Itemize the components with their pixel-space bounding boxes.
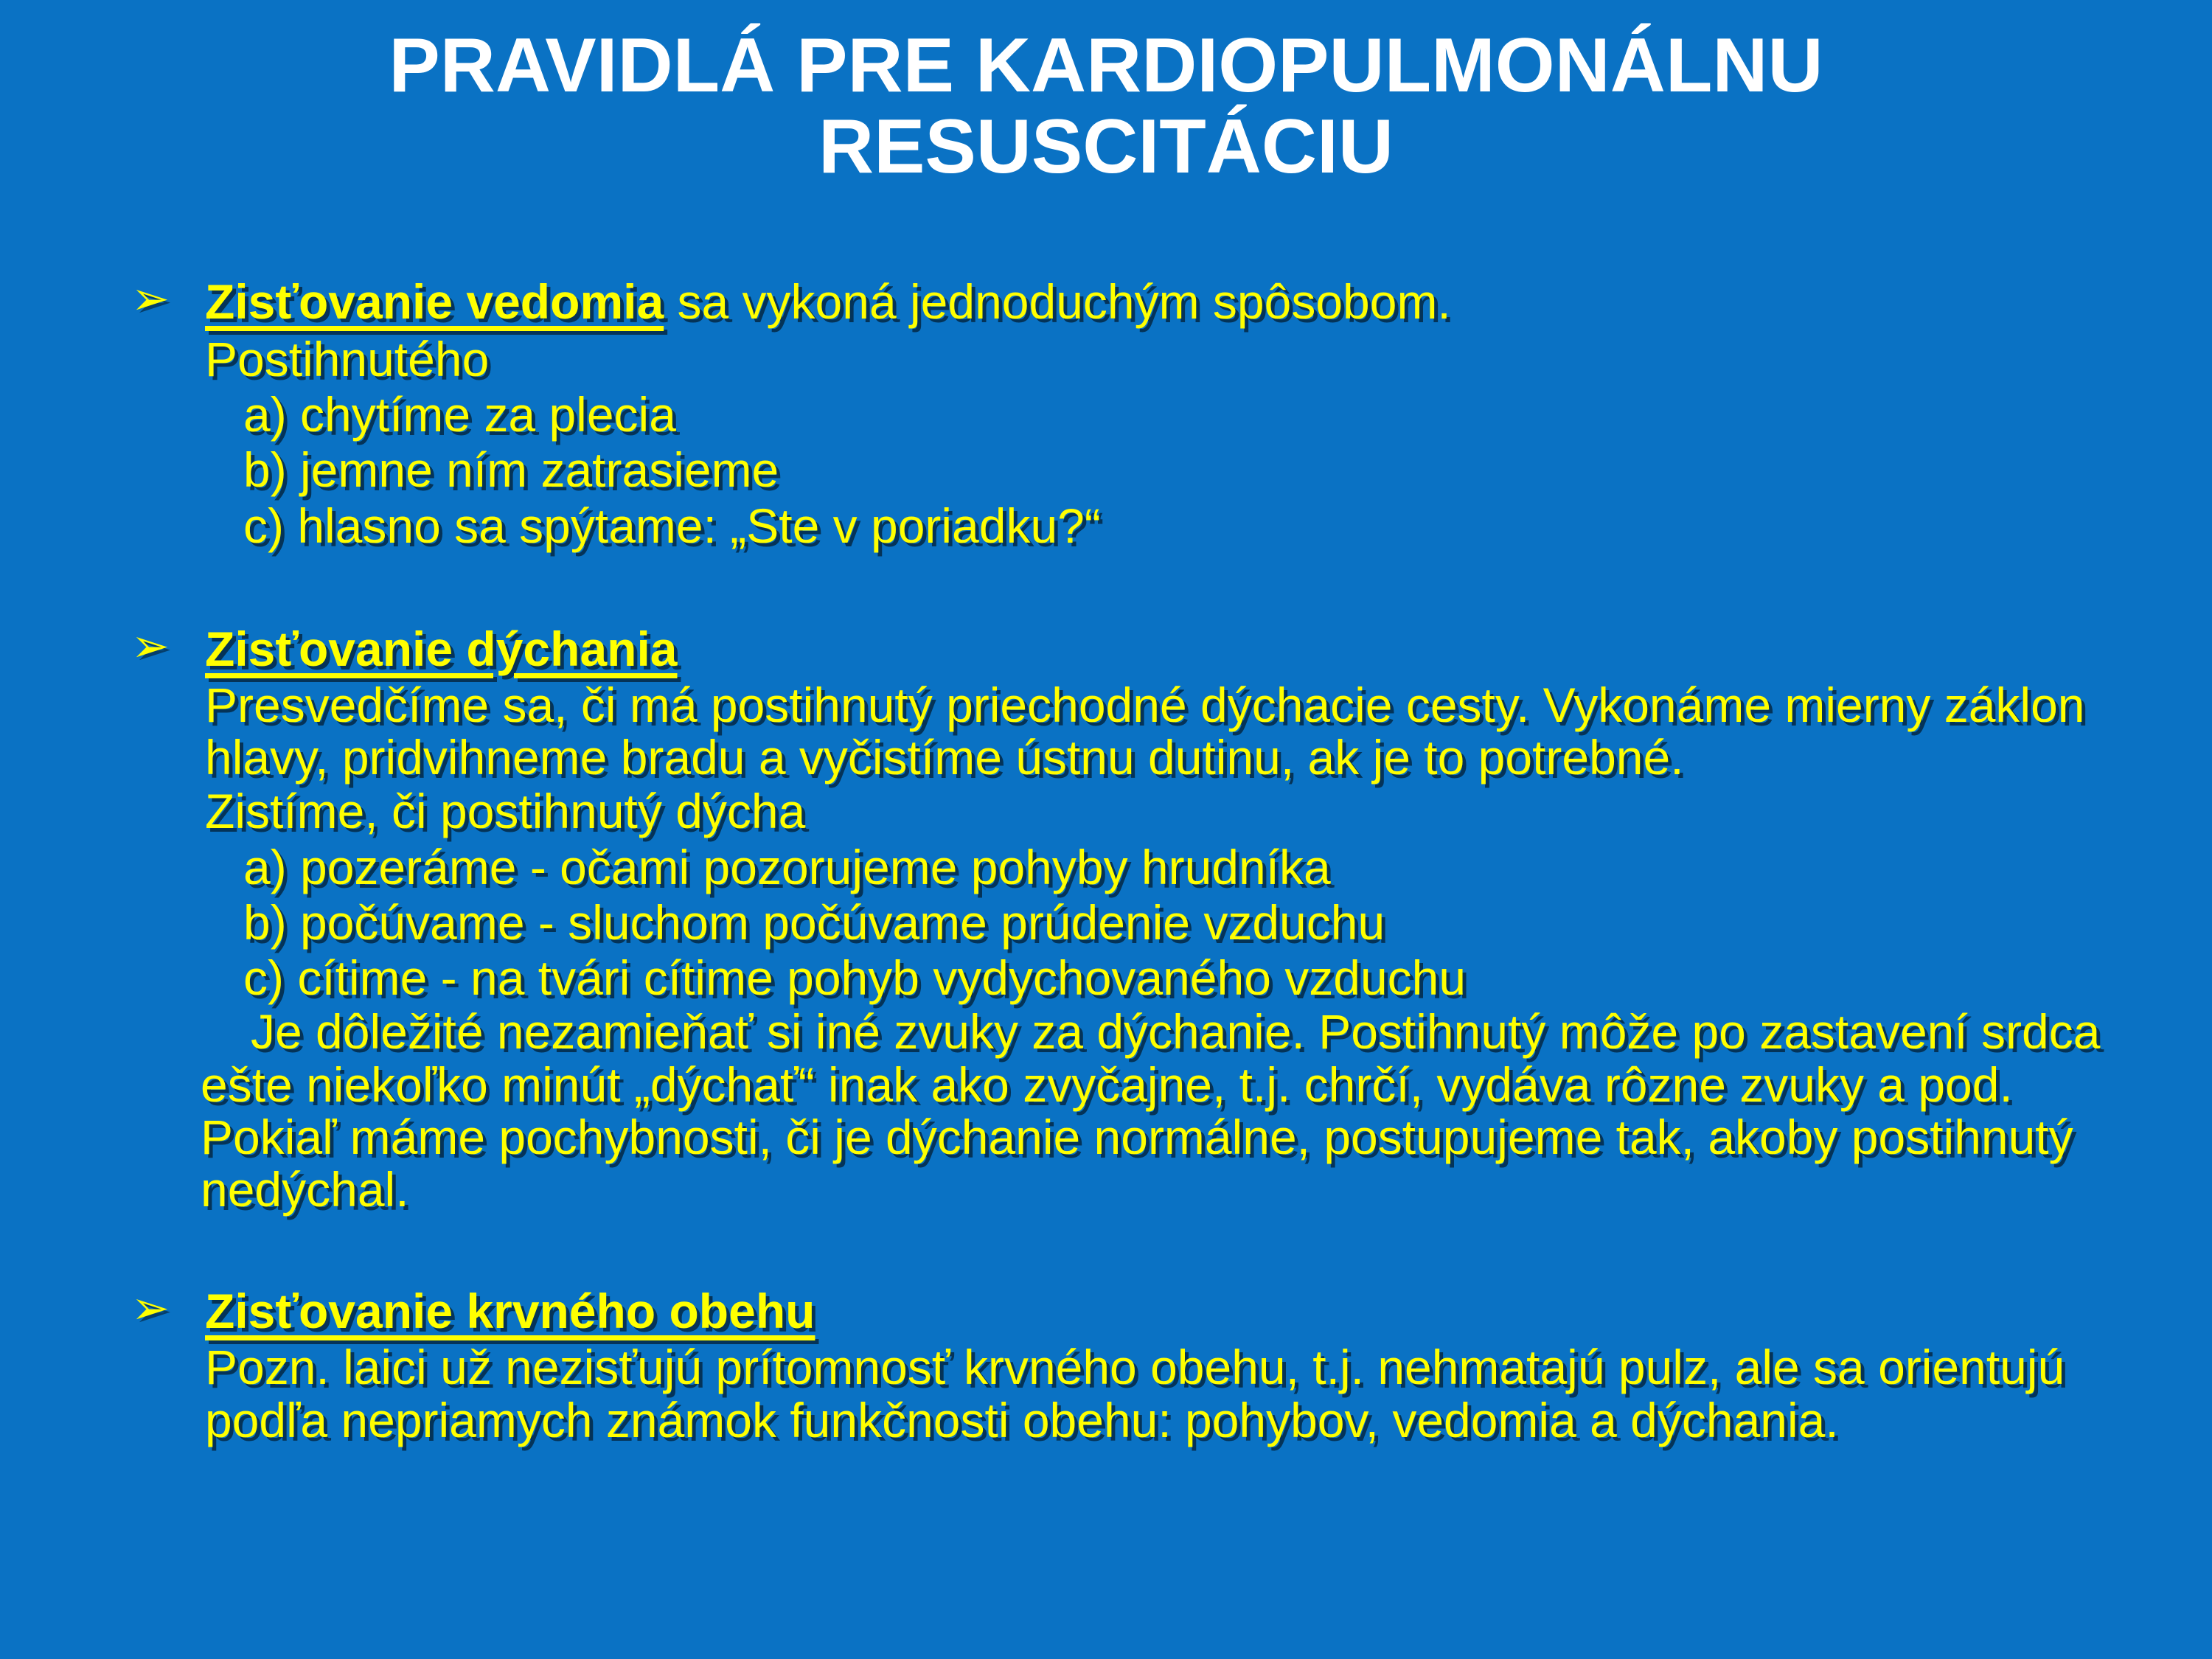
- arrow-bullet-icon: ➢: [131, 1285, 170, 1331]
- title-line-1: PRAVIDLÁ PRE KARDIOPULMONÁLNU: [111, 25, 2101, 106]
- section-1-item-a: a) chytíme za plecia: [0, 387, 2212, 442]
- bullet-row-1: ➢ Zisťovanie vedomia sa vykoná jednoduch…: [0, 274, 2212, 332]
- section-1-heading: Zisťovanie vedomia: [205, 274, 664, 329]
- section-2-subline: Zistíme, či postihnutý dýcha: [0, 784, 2212, 839]
- section-2-paragraph: Presvedčíme sa, či má postihnutý priecho…: [0, 679, 2212, 785]
- section-2-heading: Zisťovanie dýchania: [205, 622, 678, 676]
- section-gap-1: [0, 554, 2212, 622]
- section-1-subline: Postihnutého: [0, 332, 2212, 387]
- section-1-heading-rest: sa vykoná jednoduchým spôsobom.: [664, 274, 1451, 329]
- bullet-row-2: ➢ Zisťovanie dýchania: [0, 622, 2212, 679]
- bullet-row-3: ➢ Zisťovanie krvného obehu: [0, 1284, 2212, 1341]
- section-2-item-a: a) pozeráme - očami pozorujeme pohyby hr…: [0, 840, 2212, 895]
- section-2-closing-paragraph: Je dôležité nezamieňať si iné zvuky za d…: [0, 1006, 2212, 1216]
- section-zistovanie-krvneho-obehu: ➢ Zisťovanie krvného obehu Pozn. laici u…: [0, 1284, 2212, 1447]
- section-1-heading-line: Zisťovanie vedomia sa vykoná jednoduchým…: [205, 274, 1451, 329]
- section-gap-2: [0, 1216, 2212, 1284]
- title-line-2: RESUSCITÁCIU: [111, 106, 2101, 187]
- section-zistovanie-dychania: ➢ Zisťovanie dýchania Presvedčíme sa, či…: [0, 622, 2212, 1217]
- section-2-item-c: c) cítime - na tvári cítime pohyb vydych…: [0, 950, 2212, 1006]
- presentation-slide: PRAVIDLÁ PRE KARDIOPULMONÁLNU RESUSCITÁC…: [0, 0, 2212, 1659]
- section-zistovanie-vedomia: ➢ Zisťovanie vedomia sa vykoná jednoduch…: [0, 274, 2212, 554]
- slide-title: PRAVIDLÁ PRE KARDIOPULMONÁLNU RESUSCITÁC…: [111, 25, 2101, 187]
- section-3-heading: Zisťovanie krvného obehu: [205, 1284, 815, 1338]
- arrow-bullet-icon: ➢: [131, 623, 170, 669]
- section-2-item-b: b) počúvame - sluchom počúvame prúdenie …: [0, 895, 2212, 950]
- section-1-item-c: c) hlasno sa spýtame: „Ste v poriadku?“: [0, 498, 2212, 554]
- section-3-paragraph: Pozn. laici už nezisťujú prítomnosť krvn…: [0, 1341, 2212, 1447]
- slide-body: ➢ Zisťovanie vedomia sa vykoná jednoduch…: [0, 274, 2212, 1447]
- arrow-bullet-icon: ➢: [131, 276, 170, 321]
- section-1-item-b: b) jemne ním zatrasieme: [0, 442, 2212, 498]
